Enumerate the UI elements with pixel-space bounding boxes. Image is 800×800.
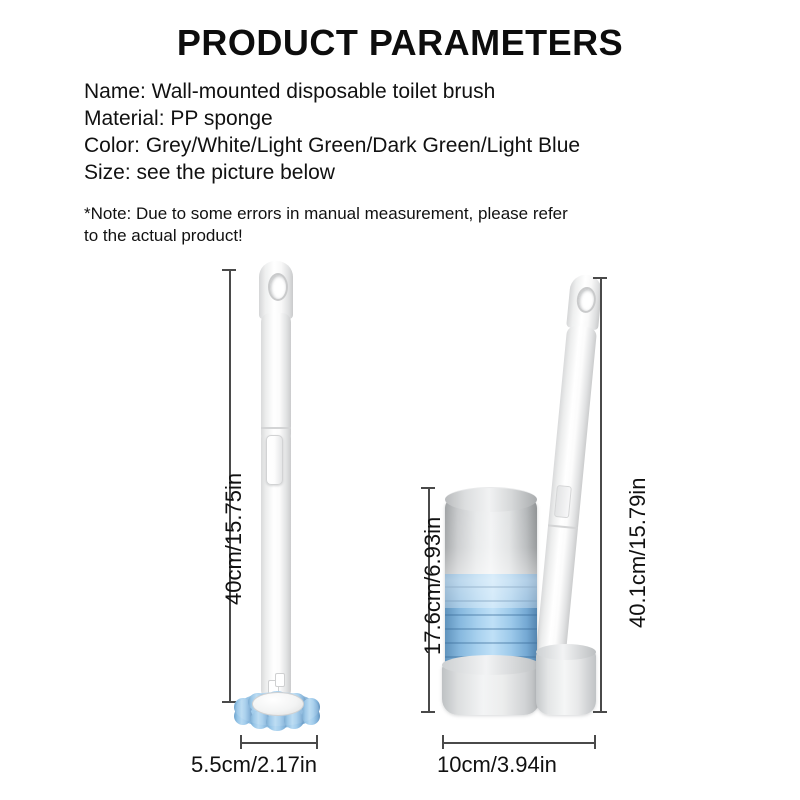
page-title: PRODUCT PARAMETERS (0, 22, 800, 64)
spec-list: Name: Wall-mounted disposable toilet bru… (84, 78, 744, 186)
dimension-line-width-left (240, 742, 318, 744)
spec-line-size: Size: see the picture below (84, 159, 744, 186)
dimension-label-width-right: 10cm/3.94in (437, 752, 557, 778)
dimension-line-height-right (600, 277, 602, 713)
sponge-clip-step-left (275, 673, 285, 687)
dimension-cap-left-right (442, 735, 444, 749)
brush-handle-right (531, 273, 603, 694)
holder-slot-lip (536, 644, 596, 660)
spec-line-material: Material: PP sponge (84, 105, 744, 132)
dimension-cap-top-dispenser (421, 487, 435, 489)
product-illustrations: 40cm/15.75in 5.5cm/2.17in (0, 255, 800, 800)
sponge-hub-left (252, 692, 304, 716)
dimension-line-width-right (442, 742, 596, 744)
dimension-cap-top-left (222, 269, 236, 271)
dimension-cap-top-right (593, 277, 607, 279)
dimension-cap-bottom-dispenser (421, 711, 435, 713)
handle-shaft-upper-left (261, 313, 291, 443)
dimension-cap-right-right (594, 735, 596, 749)
dimension-cap-left-left (240, 735, 242, 749)
dimension-label-height-right: 40.1cm/15.79in (625, 478, 651, 628)
holder-cup-lip (442, 655, 540, 675)
holder-slot-right-compartment (536, 651, 596, 715)
spec-line-name: Name: Wall-mounted disposable toilet bru… (84, 78, 744, 105)
dimension-cap-right-left (316, 735, 318, 749)
hanging-hole-icon (268, 273, 288, 301)
note-line-1: *Note: Due to some errors in manual meas… (84, 203, 694, 225)
thumb-grip-right[interactable] (554, 485, 572, 518)
dimension-label-dispenser-height: 17.6cm/6.93in (420, 517, 446, 655)
dimension-label-height-left: 40cm/15.75in (221, 473, 247, 605)
note-line-2: to the actual product! (84, 225, 694, 247)
dispenser-cap (445, 487, 537, 512)
dimension-cap-bottom-right (593, 711, 607, 713)
spec-line-color: Color: Grey/White/Light Green/Dark Green… (84, 132, 744, 159)
release-slider-button-left[interactable] (266, 435, 283, 485)
dimension-label-width-left: 5.5cm/2.17in (191, 752, 317, 778)
note-block: *Note: Due to some errors in manual meas… (84, 203, 694, 247)
